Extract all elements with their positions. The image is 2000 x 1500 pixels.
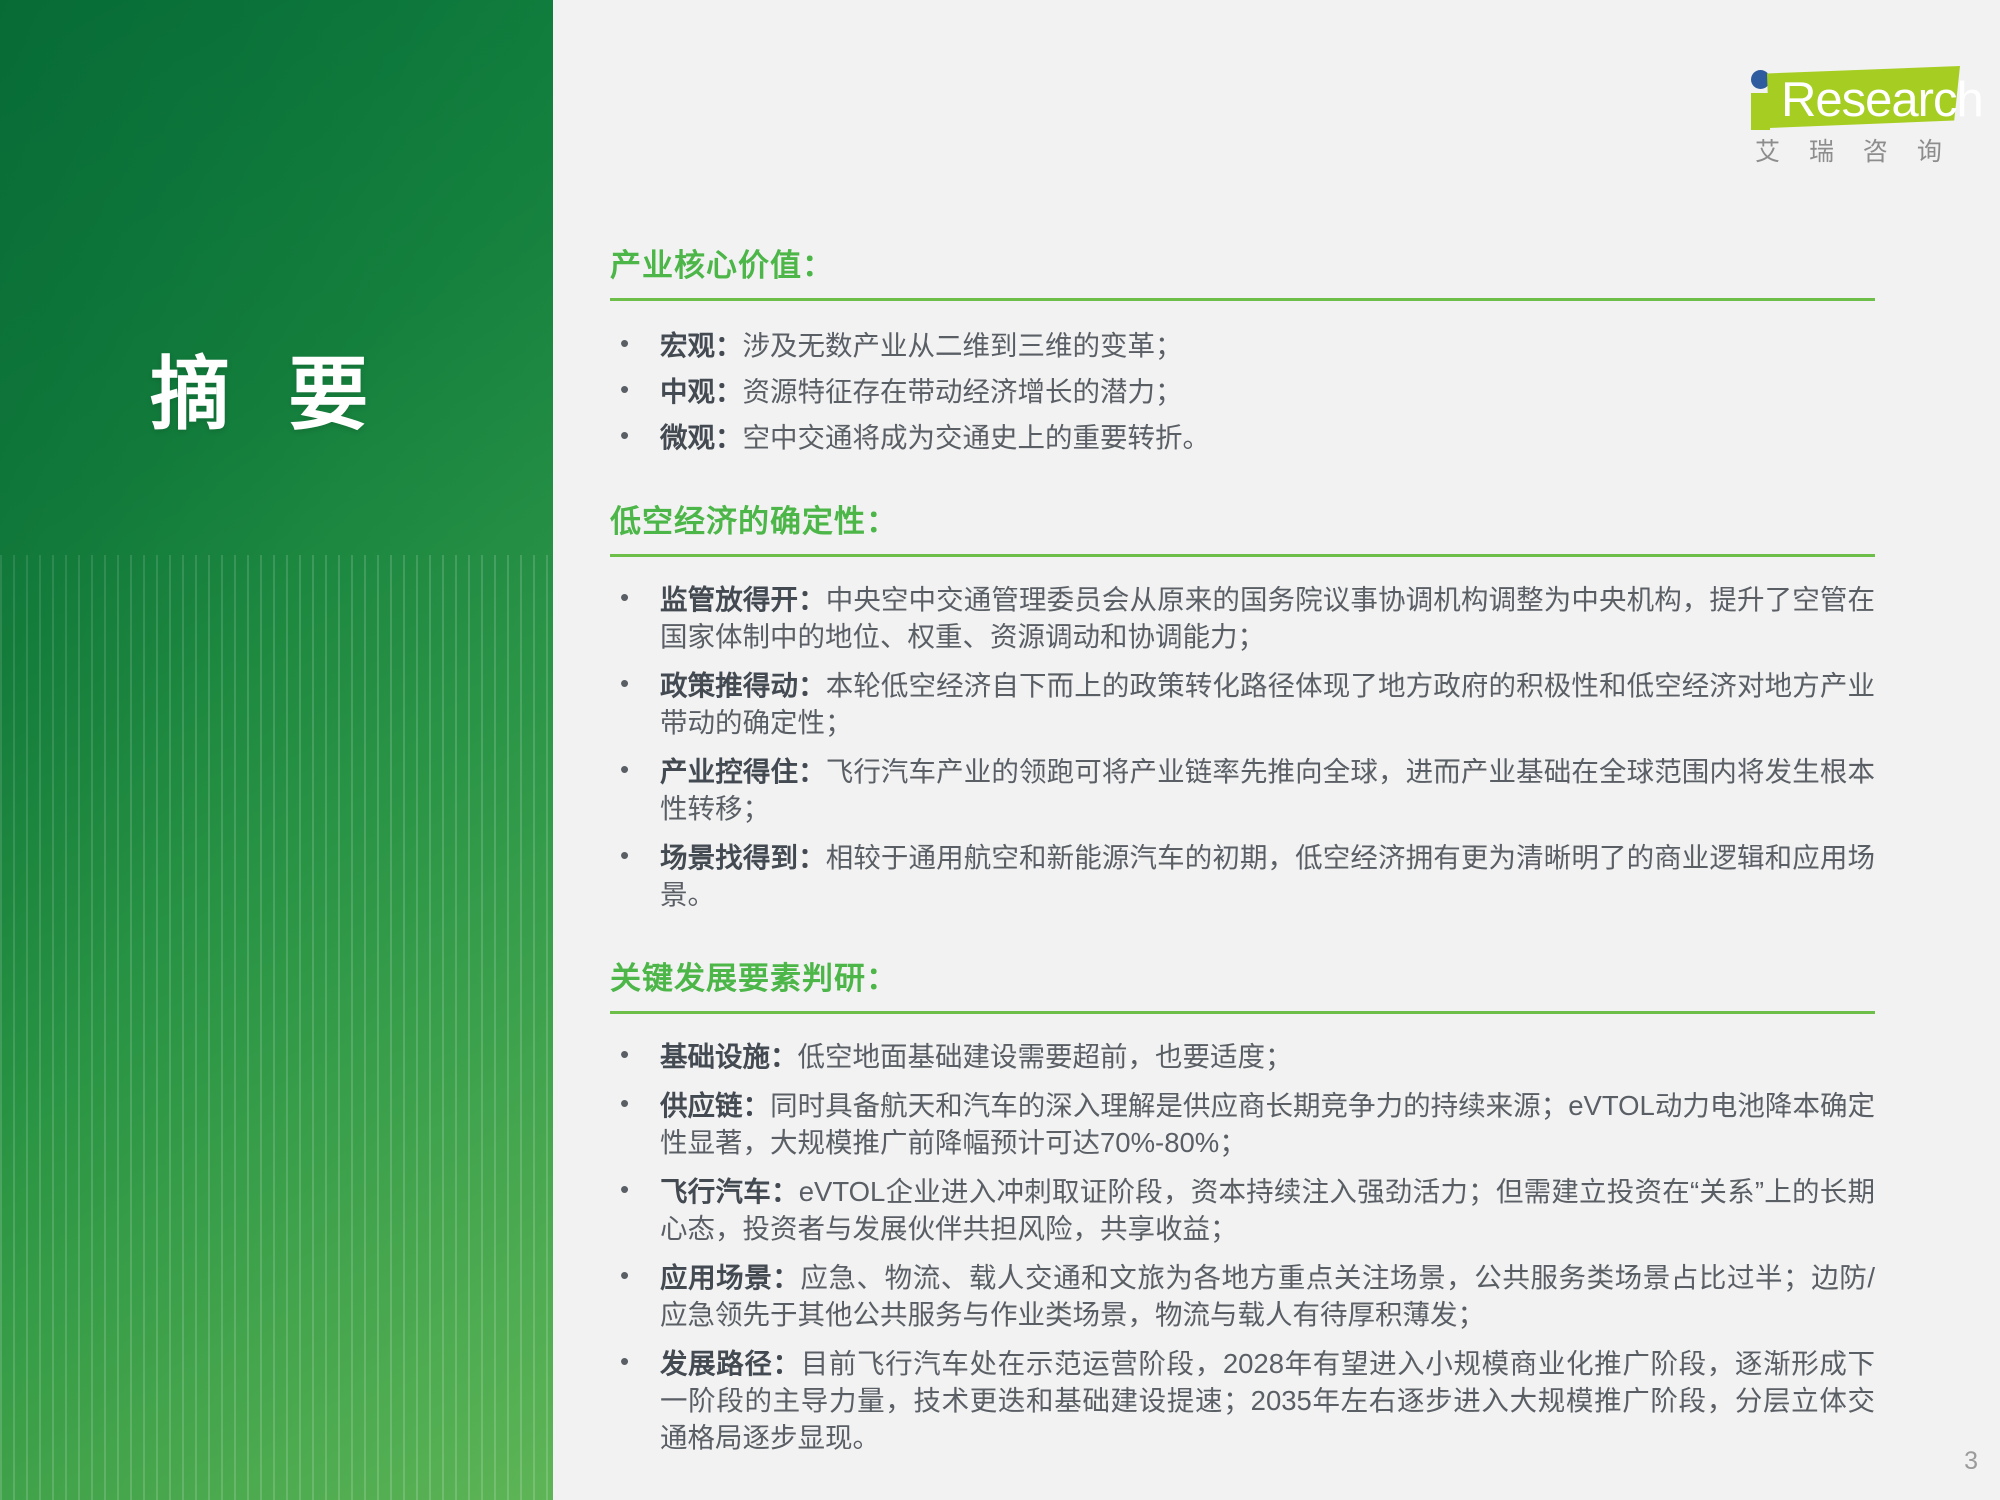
bullet-label: 应用场景：: [660, 1262, 800, 1293]
bullet-text: eVTOL企业进入冲刺取证阶段，资本持续注入强劲活力；但需建立投资在“关系”上的…: [660, 1176, 1875, 1244]
section-core-value: 产业核心价值： 宏观：涉及无数产业从二维到三维的变革； 中观：资源特征存在带动经…: [610, 240, 1875, 456]
bullet-list: 监管放得开：中央空中交通管理委员会从原来的国务院议事协调机构调整为中央机构，提升…: [610, 581, 1875, 913]
bullet-text: 涉及无数产业从二维到三维的变革；: [743, 330, 1183, 361]
section-heading: 产业核心价值：: [610, 240, 1875, 285]
stripe-pattern: [0, 555, 553, 1500]
bullet-text: 资源特征存在带动经济增长的潜力；: [743, 376, 1183, 407]
bullet-label: 供应链：: [660, 1090, 770, 1121]
list-item: 发展路径：目前飞行汽车处在示范运营阶段，2028年有望进入小规模商业化推广阶段，…: [610, 1345, 1875, 1456]
section-divider: [610, 1011, 1875, 1014]
bullet-text: 应急、物流、载人交通和文旅为各地方重点关注场景，公共服务类场景占比过半；边防/应…: [660, 1262, 1875, 1330]
section-key-factors: 关键发展要素判研： 基础设施：低空地面基础建设需要超前，也要适度； 供应链：同时…: [610, 953, 1875, 1456]
bullet-text: 中央空中交通管理委员会从原来的国务院议事协调机构调整为中央机构，提升了空管在国家…: [660, 584, 1875, 652]
section-heading: 关键发展要素判研：: [610, 953, 1875, 998]
section-heading: 低空经济的确定性：: [610, 496, 1875, 541]
bullet-list: 宏观：涉及无数产业从二维到三维的变革； 中观：资源特征存在带动经济增长的潜力； …: [610, 327, 1875, 456]
bullet-text: 空中交通将成为交通史上的重要转折。: [743, 422, 1211, 453]
slide-root: 摘 要 Research 艾 瑞 咨 询 产业核心价值： 宏观：涉及无数产业从二…: [0, 0, 2000, 1500]
bullet-text: 相较于通用航空和新能源汽车的初期，低空经济拥有更为清晰明了的商业逻辑和应用场景。: [660, 842, 1875, 910]
bullet-label: 政策推得动：: [660, 670, 826, 701]
bullet-text: 低空地面基础建设需要超前，也要适度；: [798, 1041, 1293, 1072]
logo-wordmark: Research: [1781, 72, 1983, 128]
logo-i-stem-icon: [1751, 93, 1770, 130]
iresearch-logo: Research 艾 瑞 咨 询: [1745, 52, 1960, 162]
summary-content: 产业核心价值： 宏观：涉及无数产业从二维到三维的变革； 中观：资源特征存在带动经…: [610, 240, 1875, 1496]
list-item: 中观：资源特征存在带动经济增长的潜力；: [610, 373, 1875, 410]
list-item: 微观：空中交通将成为交通史上的重要转折。: [610, 419, 1875, 456]
bullet-label: 场景找得到：: [660, 842, 826, 873]
bullet-text: 飞行汽车产业的领跑可将产业链率先推向全球，进而产业基础在全球范围内将发生根本性转…: [660, 756, 1875, 824]
bullet-text: 目前飞行汽车处在示范运营阶段，2028年有望进入小规模商业化推广阶段，逐渐形成下…: [660, 1348, 1875, 1453]
list-item: 场景找得到：相较于通用航空和新能源汽车的初期，低空经济拥有更为清晰明了的商业逻辑…: [610, 839, 1875, 913]
logo-mark: Research: [1745, 52, 1960, 122]
section-divider: [610, 298, 1875, 301]
bullet-label: 基础设施：: [660, 1041, 798, 1072]
bullet-label: 宏观：: [660, 330, 743, 361]
list-item: 基础设施：低空地面基础建设需要超前，也要适度；: [610, 1038, 1875, 1075]
bullet-label: 发展路径：: [660, 1348, 801, 1379]
page-number: 3: [1964, 1447, 1978, 1476]
list-item: 监管放得开：中央空中交通管理委员会从原来的国务院议事协调机构调整为中央机构，提升…: [610, 581, 1875, 655]
section-divider: [610, 554, 1875, 557]
left-decorative-panel: 摘 要: [0, 0, 553, 1500]
list-item: 供应链：同时具备航天和汽车的深入理解是供应商长期竞争力的持续来源；eVTOL动力…: [610, 1087, 1875, 1161]
bullet-label: 产业控得住：: [660, 756, 826, 787]
bullet-label: 监管放得开：: [660, 584, 826, 615]
logo-i-dot-icon: [1751, 70, 1770, 89]
section-certainty: 低空经济的确定性： 监管放得开：中央空中交通管理委员会从原来的国务院议事协调机构…: [610, 496, 1875, 913]
list-item: 政策推得动：本轮低空经济自下而上的政策转化路径体现了地方政府的积极性和低空经济对…: [610, 667, 1875, 741]
bullet-label: 中观：: [660, 376, 743, 407]
bullet-label: 飞行汽车：: [660, 1176, 799, 1207]
list-item: 应用场景：应急、物流、载人交通和文旅为各地方重点关注场景，公共服务类场景占比过半…: [610, 1259, 1875, 1333]
page-title: 摘 要: [150, 330, 386, 446]
bullet-text: 同时具备航天和汽车的深入理解是供应商长期竞争力的持续来源；eVTOL动力电池降本…: [660, 1090, 1875, 1158]
list-item: 宏观：涉及无数产业从二维到三维的变革；: [610, 327, 1875, 364]
list-item: 产业控得住：飞行汽车产业的领跑可将产业链率先推向全球，进而产业基础在全球范围内将…: [610, 753, 1875, 827]
list-item: 飞行汽车：eVTOL企业进入冲刺取证阶段，资本持续注入强劲活力；但需建立投资在“…: [610, 1173, 1875, 1247]
ray-pattern: [0, 0, 553, 560]
bullet-list: 基础设施：低空地面基础建设需要超前，也要适度； 供应链：同时具备航天和汽车的深入…: [610, 1038, 1875, 1456]
logo-chinese-name: 艾 瑞 咨 询: [1755, 132, 1960, 168]
bullet-label: 微观：: [660, 422, 743, 453]
bullet-text: 本轮低空经济自下而上的政策转化路径体现了地方政府的积极性和低空经济对地方产业带动…: [660, 670, 1875, 738]
